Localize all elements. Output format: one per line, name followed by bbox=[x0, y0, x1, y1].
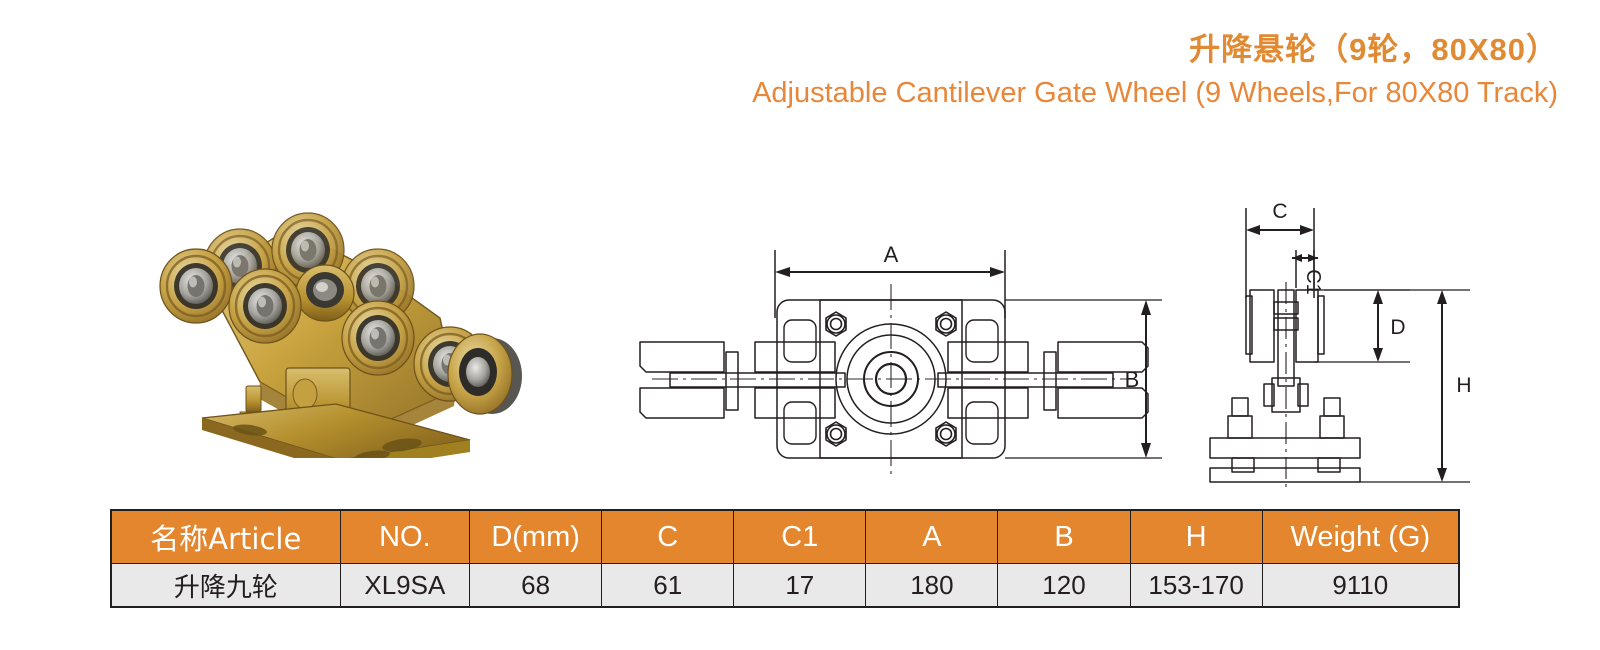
column-header-c: C bbox=[602, 510, 734, 564]
cell-b: 120 bbox=[998, 564, 1130, 608]
page-title-english: Adjustable Cantilever Gate Wheel (9 Whee… bbox=[752, 79, 1558, 108]
cell-no: XL9SA bbox=[340, 564, 469, 608]
top-plan-view-drawing: A B bbox=[630, 240, 1170, 490]
cell-d: 68 bbox=[470, 564, 602, 608]
specification-table: 名称Article NO. D(mm) C C1 A B H Weight (G… bbox=[110, 509, 1460, 608]
column-header-weight: Weight (G) bbox=[1262, 510, 1459, 564]
cell-h: 153-170 bbox=[1130, 564, 1262, 608]
column-header-no: NO. bbox=[340, 510, 469, 564]
column-header-h: H bbox=[1130, 510, 1262, 564]
dimension-label-b: B bbox=[1125, 367, 1140, 392]
column-header-article: 名称Article bbox=[111, 510, 340, 564]
cell-weight: 9110 bbox=[1262, 564, 1459, 608]
product-photo bbox=[140, 168, 540, 458]
page-title-chinese: 升降悬轮（9轮，80X80） bbox=[752, 34, 1558, 65]
side-elevation-drawing: C C1 D H bbox=[1180, 190, 1480, 490]
table-row: 升降九轮 XL9SA 68 61 17 180 120 153-170 9110 bbox=[111, 564, 1459, 608]
title-block: 升降悬轮（9轮，80X80） Adjustable Cantilever Gat… bbox=[752, 34, 1558, 108]
dimension-label-c1: C1 bbox=[1302, 269, 1324, 295]
dimension-label-h: H bbox=[1456, 374, 1471, 397]
cell-c: 61 bbox=[602, 564, 734, 608]
column-header-b: B bbox=[998, 510, 1130, 564]
column-header-a: A bbox=[866, 510, 998, 564]
dimension-label-d: D bbox=[1390, 316, 1405, 339]
dimension-label-c: C bbox=[1272, 200, 1287, 223]
table-header-row: 名称Article NO. D(mm) C C1 A B H Weight (G… bbox=[111, 510, 1459, 564]
dimension-label-a: A bbox=[884, 242, 899, 267]
column-header-c1: C1 bbox=[734, 510, 866, 564]
cell-c1: 17 bbox=[734, 564, 866, 608]
column-header-d: D(mm) bbox=[470, 510, 602, 564]
cell-article: 升降九轮 bbox=[111, 564, 340, 608]
cell-a: 180 bbox=[866, 564, 998, 608]
